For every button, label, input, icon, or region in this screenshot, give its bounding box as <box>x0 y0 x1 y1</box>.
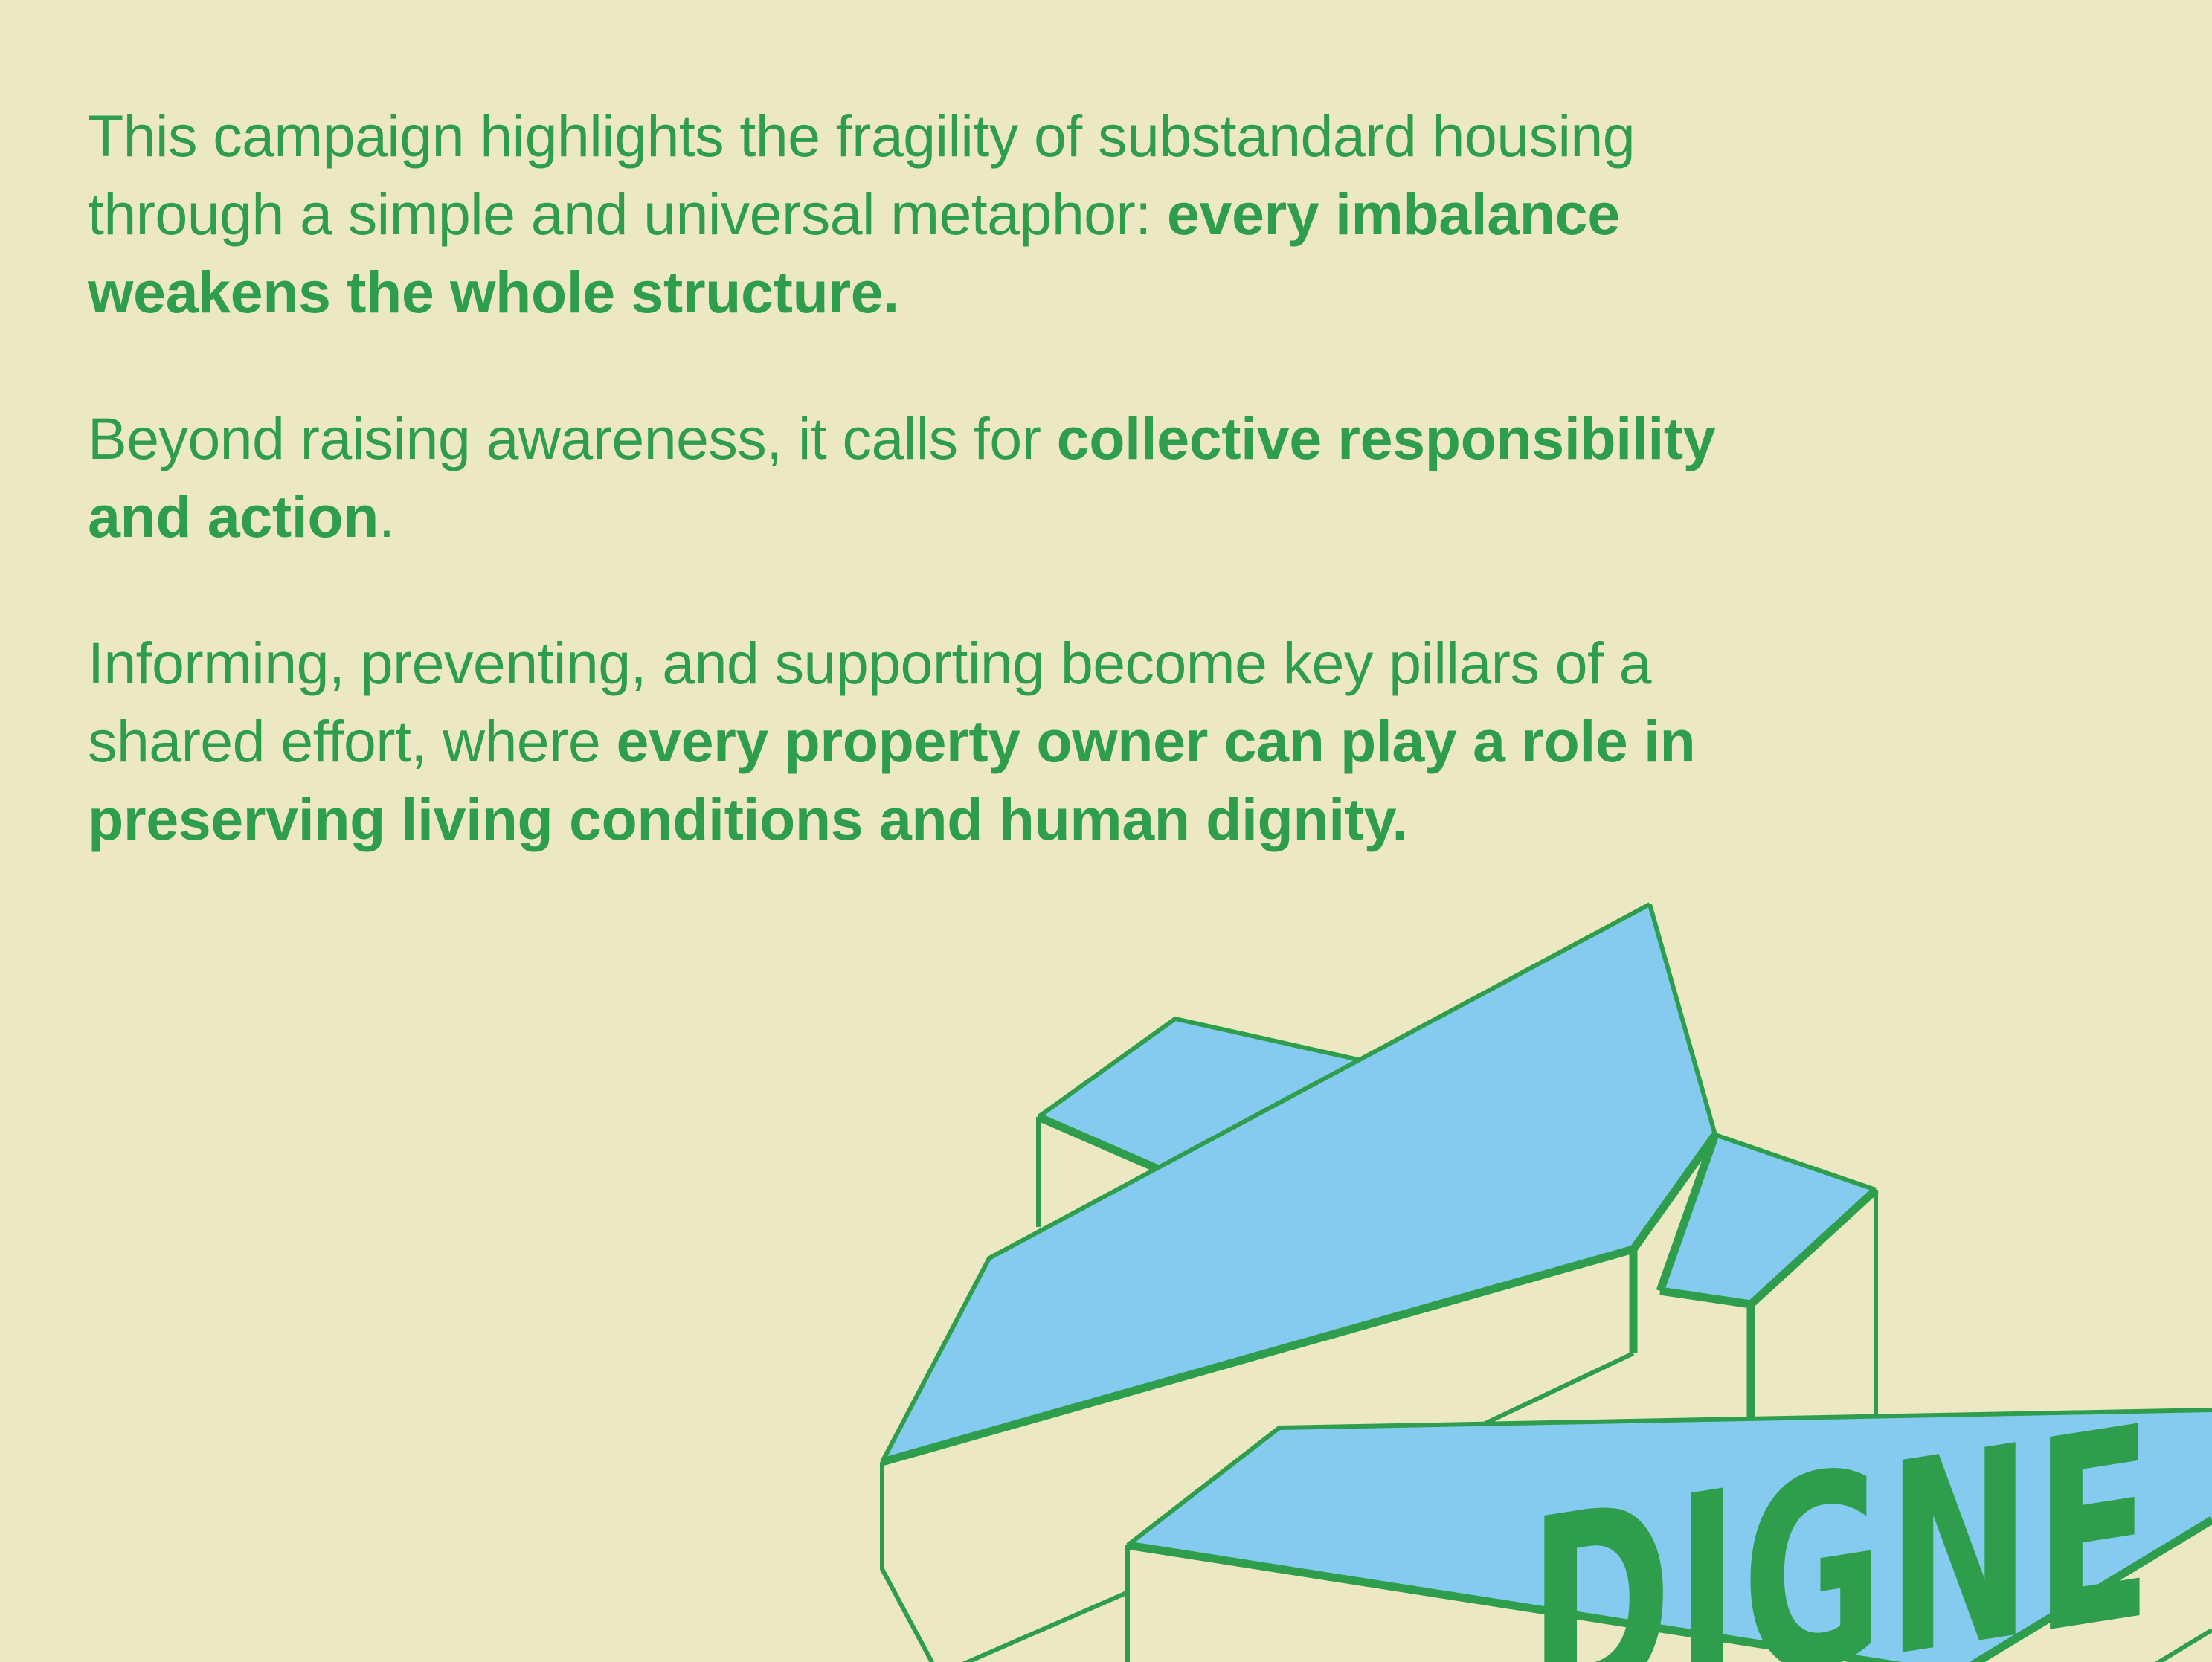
beam-structure-svg: DIGNE <box>855 877 2212 1662</box>
poster-canvas: This campaign highlights the fragility o… <box>0 0 2212 1662</box>
paragraph-2: Beyond raising awareness, it calls for c… <box>88 399 1821 555</box>
paragraph-2-run-2: . <box>379 483 394 550</box>
paragraph-2-run-0: Beyond raising awareness, it calls for <box>88 405 1057 471</box>
copy-block: This campaign highlights the fragility o… <box>88 97 1821 858</box>
isometric-beam-illustration: DIGNE <box>855 877 2212 1662</box>
paragraph-3: Informing, preventing, and supporting be… <box>88 624 1821 858</box>
paragraph-1: This campaign highlights the fragility o… <box>88 97 1821 331</box>
